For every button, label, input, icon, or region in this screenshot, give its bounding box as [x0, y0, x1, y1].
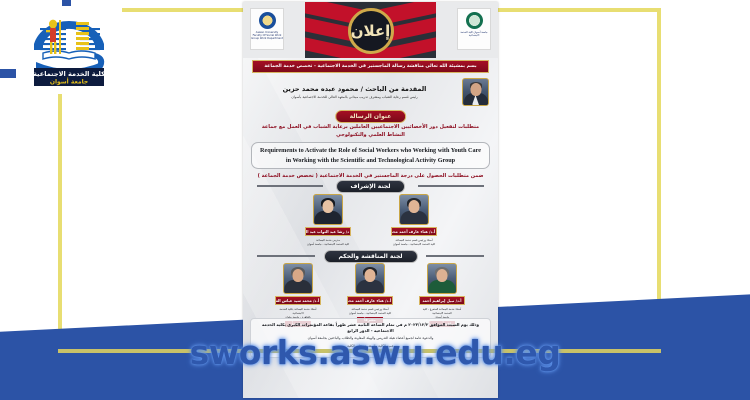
degree-requirement-line: ضمن متطلبات الحصول على درجة الماجستير في… [251, 173, 490, 179]
page-root: كلية الخدمة الاجتماعية جامعة أسوان Aswan… [0, 0, 750, 400]
supervisor-name-2: د/ رشا عبد التواب عبد الفتاح محمد [305, 227, 351, 236]
thesis-title-english: Requirements to Activate the Role of Soc… [257, 146, 484, 165]
researcher-name: المقدمة من الباحث / محمود عبده محمد حزين [252, 85, 457, 93]
thesis-title-arabic: متطلبات لتفعيل دور الأخصائيين الاجتماعيي… [251, 124, 490, 139]
supervisor-photo-2 [313, 194, 343, 225]
right-logo-caption: جامعة أسوان كلية الخدمة الاجتماعية [458, 31, 490, 37]
aswan-university-social-work-logo: Aswan University Faculty Of Social Work … [250, 8, 284, 50]
researcher-info: المقدمة من الباحث / محمود عبده محمد حزين… [252, 85, 457, 99]
site-watermark: sworks.aswu.edu.eg [0, 333, 750, 372]
thesis-title-block: متطلبات لتفعيل دور الأخصائيين الاجتماعيي… [251, 124, 490, 179]
supervisor-card-2: د/ رشا عبد التواب عبد الفتاح محمد مدرس خ… [305, 194, 351, 246]
examiner-photo-2 [355, 263, 385, 294]
announcement-badge: إعلان [348, 8, 394, 54]
judging-rule-right [426, 255, 484, 257]
thesis-title-english-box: Requirements to Activate the Role of Soc… [251, 142, 490, 169]
supervision-committee-pill: لجنة الإشراف [336, 180, 406, 193]
supervisor-photo-1 [399, 194, 429, 225]
thesis-title-pill: عنوان الرسالة [335, 110, 407, 123]
examiner-name-1: أ.د/ نبيل إبراهيم أحمد [419, 296, 465, 305]
left-logo-caption: Aswan University Faculty Of Social Work … [251, 31, 283, 41]
examiner-name-3: أ.د/ محمد سيد عباس الشرقاوي [275, 296, 321, 305]
supervisor-titles-1: أستاذ ورئيس قسم خدمة الجماعةكلية الخدمة … [391, 238, 437, 246]
examiner-photo-3 [283, 263, 313, 294]
supervision-rule-right [418, 185, 484, 187]
faculty-logo: كلية الخدمة الاجتماعية جامعة أسوان [16, 6, 122, 94]
announcement-badge-label: إعلان [351, 22, 391, 40]
researcher-photo [462, 78, 489, 106]
judging-committee-pill: لجنة المناقشة والحكم [323, 250, 417, 263]
examiner-card-2: أ.د/ هناء عارف أحمد محمد أستاذ ورئيس قسم… [347, 263, 393, 323]
aswan-university-logo: جامعة أسوان كلية الخدمة الاجتماعية [457, 8, 491, 50]
examiner-photo-1 [427, 263, 457, 294]
bismillah-banner-text: بسم بمشيئة الله تعالى مناقشة رسالة الماج… [264, 64, 476, 69]
faculty-logo-line1: كلية الخدمة الاجتماعية [33, 70, 105, 78]
bismillah-banner: بسم بمشيئة الله تعالى مناقشة رسالة الماج… [252, 60, 489, 73]
faculty-logo-line2: جامعة أسوان [50, 78, 88, 86]
supervisor-titles-2: مدرس خدمة الجماعةكلية الخدمة الاجتماعية … [305, 238, 351, 246]
supervisor-name-1: أ.د/ هناء عارف أحمد محمد [391, 227, 437, 236]
judging-rule-left [257, 255, 315, 257]
examiner-titles-1: أستاذ خدمة الجماعة المتفرغ - كلية الخدمة… [419, 307, 465, 319]
examiner-titles-2: أستاذ ورئيس قسم خدمة الجماعةكلية الخدمة … [347, 307, 393, 315]
researcher-row: المقدمة من الباحث / محمود عبده محمد حزين… [252, 78, 489, 106]
supervision-rule-left [257, 185, 323, 187]
examiner-name-2: أ.د/ هناء عارف أحمد محمد [347, 296, 393, 305]
examiner-titles-3: أستاذ خدمة الجماعة بكلية الخدمة الاجتماع… [275, 307, 321, 319]
researcher-role: رئيس قسم رعاية الشباب ومشرف تدريب ميداني… [252, 95, 457, 99]
supervisor-card-1: أ.د/ هناء عارف أحمد محمد أستاذ ورئيس قسم… [391, 194, 437, 246]
